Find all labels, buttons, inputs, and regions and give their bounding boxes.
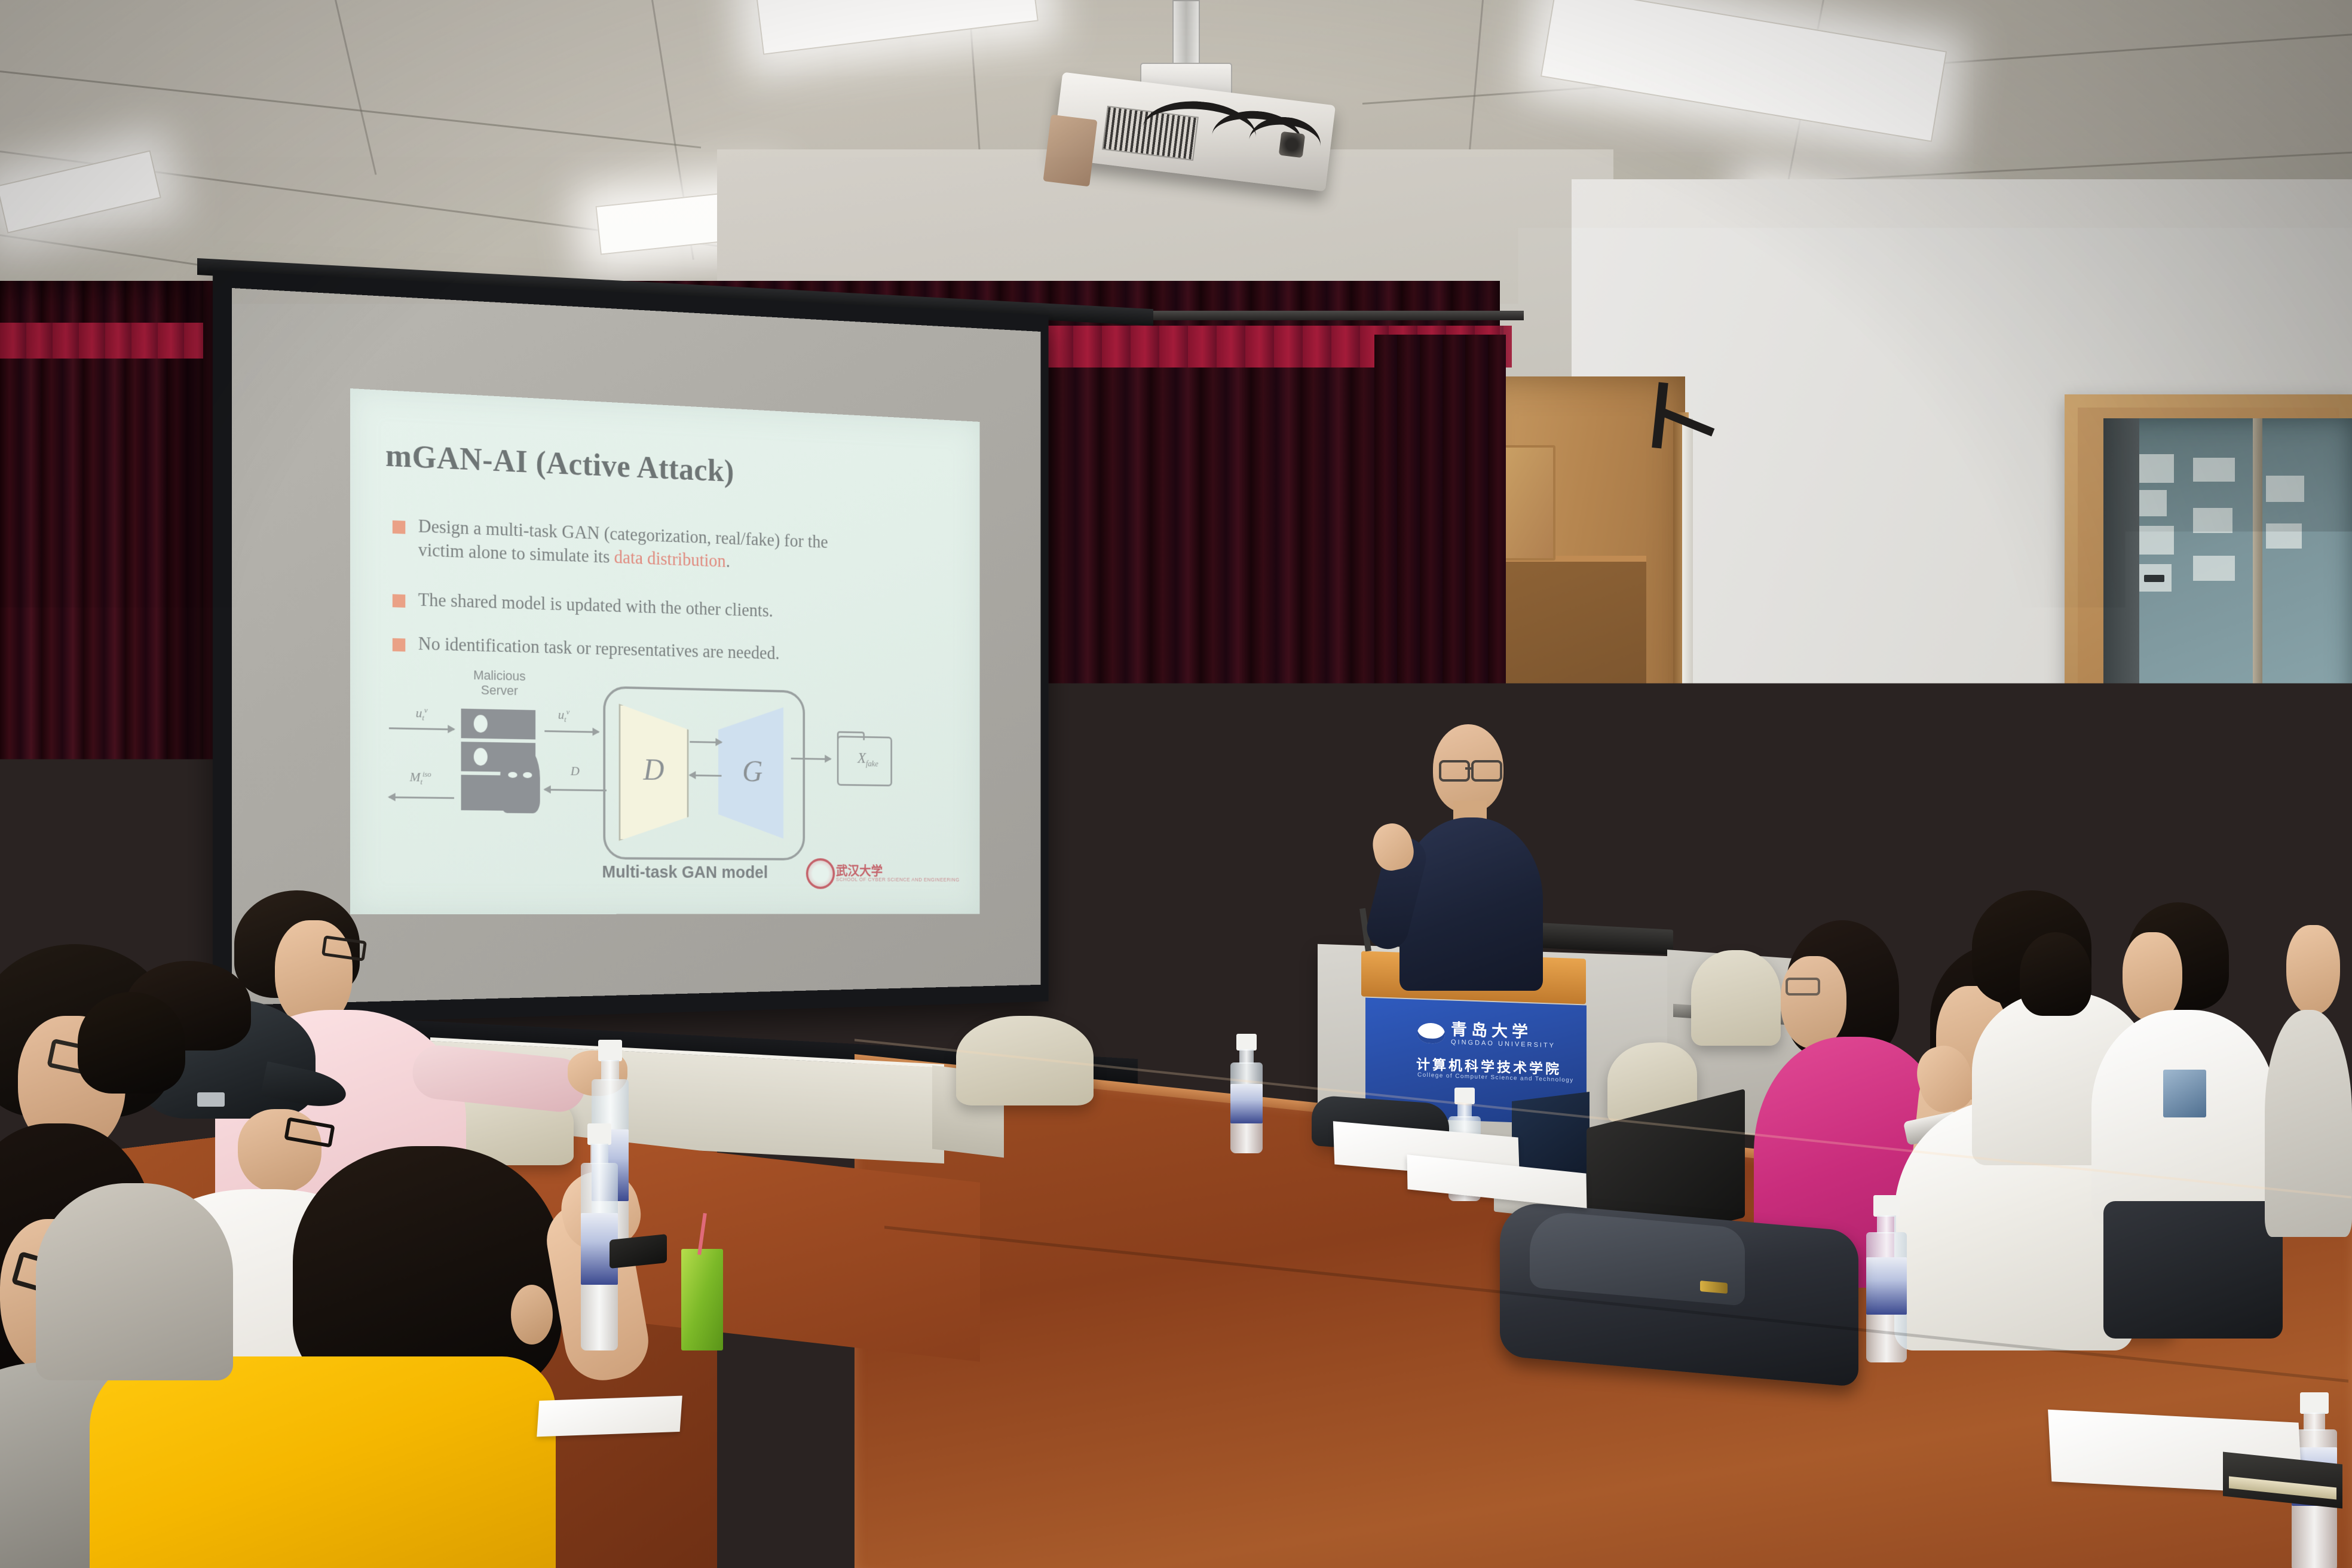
server-indicator <box>474 715 488 733</box>
attendee-glasses <box>1786 978 1820 996</box>
bottle-neck <box>2304 1413 2325 1431</box>
slide-bullet-text: The shared model is updated with the oth… <box>418 588 773 623</box>
water-bottle[interactable] <box>1863 1195 1910 1362</box>
attendee-face <box>2123 932 2182 1022</box>
bottle-neck <box>1239 1049 1254 1064</box>
diagram-arrow-in-label: utv <box>404 705 439 723</box>
projector-lens <box>1279 131 1306 158</box>
attendee-ear <box>511 1285 553 1345</box>
server-indicator <box>474 748 488 765</box>
bottle-label <box>1230 1084 1263 1123</box>
bullet-square-icon <box>393 638 406 651</box>
bullet-square-icon <box>393 594 406 608</box>
chair-back[interactable] <box>1691 950 1781 1046</box>
presentation-slide: mGAN-AI (Active Attack) Design a multi-t… <box>350 388 980 914</box>
phone[interactable] <box>610 1234 667 1269</box>
bottle-neck <box>601 1060 619 1080</box>
curtain-valance <box>0 323 203 359</box>
slide-title: mGAN-AI (Active Attack) <box>385 437 734 489</box>
hacker-figure-icon <box>500 742 540 813</box>
attendee-torso <box>2265 1010 2352 1237</box>
bullet-square-icon <box>393 520 406 534</box>
window-handle[interactable] <box>2144 575 2164 582</box>
left-curtain <box>0 281 203 1028</box>
hacker-eye <box>523 772 532 778</box>
window-mullion <box>2253 418 2262 753</box>
window-glass <box>2103 418 2352 753</box>
window-reflection <box>2137 454 2174 483</box>
attendee-face <box>2286 925 2340 1015</box>
cap-logo-icon <box>197 1092 225 1107</box>
window-reflection <box>2193 458 2235 482</box>
diagram-arrow-out <box>389 797 454 799</box>
attendee-hair <box>78 992 185 1094</box>
discriminator-letter: D <box>644 753 664 788</box>
attendee-torso-yellow-shirt <box>90 1356 556 1568</box>
window-reflection <box>2137 526 2174 555</box>
slide-bullet: The shared model is updated with the oth… <box>393 587 773 623</box>
diagram-arrow-mid <box>544 730 599 733</box>
output-subscript: fake <box>866 760 878 769</box>
speaker-torso <box>1399 817 1543 991</box>
window-reflection <box>2193 556 2235 581</box>
bottle-label <box>1866 1257 1907 1315</box>
diagram-arrow-mid-label: utv <box>547 707 581 725</box>
university-logo-subtext: SCHOOL OF CYBER SCIENCE AND ENGINEERING <box>836 877 960 883</box>
tshirt-graphic <box>2163 1070 2206 1117</box>
window-reflection <box>2137 490 2167 516</box>
attendee-face <box>1781 956 1846 1049</box>
diagram-arrow-out-label: Mtiso <box>396 769 445 787</box>
juice-carton[interactable] <box>681 1249 723 1350</box>
diagram-arrow-in <box>389 727 454 730</box>
projector-mount-pole <box>1172 0 1200 73</box>
server-block <box>461 709 536 740</box>
university-seal-logo <box>806 858 835 889</box>
window-sash[interactable] <box>2103 418 2139 753</box>
slide-bullet-text: Design a multi-task GAN (categorization,… <box>418 514 868 578</box>
speaker-glasses-bridge <box>1465 767 1472 770</box>
attendee-torso <box>2091 1010 2277 1225</box>
light-switch-toggle[interactable] <box>1851 811 1856 820</box>
diagram-output-label: Xfake <box>847 749 889 770</box>
diagram-arrow-back-label: D <box>563 763 586 778</box>
slide-bullet: No identification task or representative… <box>393 631 780 665</box>
window-reflection <box>2193 508 2232 533</box>
bottle-neck <box>590 1144 608 1164</box>
bottle-cap <box>587 1123 611 1145</box>
card-reader-keypad-icon <box>1642 876 1654 887</box>
bottle-cap <box>598 1040 622 1061</box>
bottle-neck <box>1877 1215 1896 1233</box>
diagram-arrow-g-to-d <box>690 774 721 777</box>
chair-back[interactable] <box>956 1016 1094 1105</box>
slide-diagram: Malicious Server utv Mtiso utv D D <box>373 670 959 897</box>
projector-front-panel <box>1043 115 1097 187</box>
attendee-hair <box>2020 932 2091 1016</box>
blue-box-on-shelf <box>1512 750 1551 783</box>
speaker-glasses-right-lens <box>1471 760 1502 782</box>
wall-trim <box>1682 418 1693 837</box>
slide-bullet: Design a multi-task GAN (categorization,… <box>393 513 868 578</box>
slide-bullet-highlight: data distribution <box>614 547 726 571</box>
diagram-server-label: Malicious Server <box>451 667 548 699</box>
water-bottle[interactable] <box>1228 1034 1265 1153</box>
attendee-shorts <box>2103 1201 2283 1339</box>
wall-outlet[interactable] <box>1906 734 1949 771</box>
generator-letter: G <box>742 755 762 789</box>
bottle-cap <box>1873 1195 1900 1217</box>
bottle-cap <box>2300 1392 2329 1414</box>
water-bottle[interactable] <box>578 1123 620 1350</box>
bottle-cap <box>1236 1034 1257 1051</box>
attendee-torso <box>36 1183 233 1380</box>
slide-bullet-text: No identification task or representative… <box>418 632 780 665</box>
speaker-glasses-left-lens <box>1439 760 1470 782</box>
window-reflection <box>2266 523 2302 549</box>
seminar-room-photo: mGAN-AI (Active Attack) Design a multi-t… <box>0 0 2352 1568</box>
qingdao-university-logo-icon <box>1417 1022 1445 1044</box>
hacker-eye <box>508 772 517 778</box>
window-reflection <box>2266 476 2304 502</box>
diagram-caption: Multi-task GAN model <box>602 863 768 883</box>
diagram-arrow-back <box>544 789 607 791</box>
paper-sheet[interactable] <box>537 1396 682 1437</box>
